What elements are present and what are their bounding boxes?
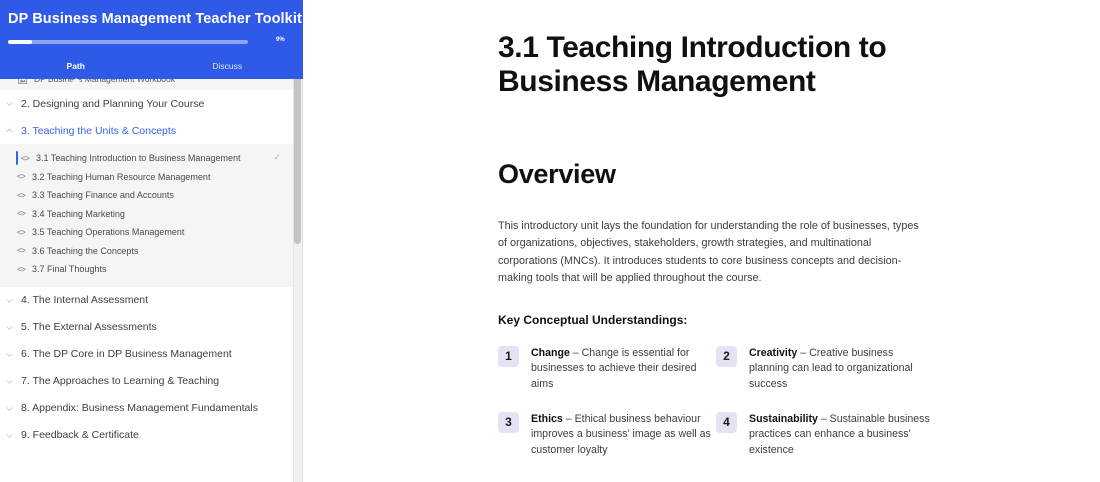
overview-heading: Overview [498,159,928,190]
sidebar-lesson-item[interactable]: <>3.7 Final Thoughts [0,260,293,279]
key-concept-dash: – [563,413,575,425]
sidebar-lesson-item[interactable]: <>3.2 Teaching Human Resource Management [0,168,293,187]
sidebar-lesson-item[interactable]: <>3.6 Teaching the Concepts [0,242,293,261]
sidebar-section-2[interactable]: 2. Designing and Planning Your Course [0,90,303,117]
key-concept-term: Sustainability [749,413,818,425]
chevron-up-icon [5,126,14,135]
sidebar-lesson-item[interactable]: <>3.1 Teaching Introduction to Business … [0,149,293,168]
sidebar-section-8[interactable]: 8. Appendix: Business Management Fundame… [0,395,303,422]
sidebar-lesson-item[interactable]: <>3.4 Teaching Marketing [0,205,293,224]
lesson-list: <>3.1 Teaching Introduction to Business … [0,144,293,287]
key-concept-item: 2Creativity – Creative business planning… [716,346,934,393]
lesson-label: 3.4 Teaching Marketing [32,209,125,219]
sidebar-section-label: 3. Teaching the Units & Concepts [21,125,176,137]
code-brackets-icon: <> [21,154,32,163]
lesson-content: 3.1 Teaching Introduction to Business Ma… [303,0,1100,482]
sidebar-scrollbar-thumb[interactable] [294,74,301,244]
key-concepts-heading: Key Conceptual Understandings: [498,313,928,327]
key-concept-number: 1 [498,346,519,367]
key-concept-number: 3 [498,412,519,433]
key-concept-term: Change [531,347,570,359]
sidebar-lesson-item[interactable]: <>3.5 Teaching Operations Management [0,223,293,242]
chevron-down-icon [5,431,14,440]
page-title: 3.1 Teaching Introduction to Business Ma… [498,31,928,99]
check-icon: ✓ [273,152,281,163]
sidebar-section-7[interactable]: 7. The Approaches to Learning & Teaching [0,368,303,395]
course-progress-bar [8,40,248,44]
sidebar-section-label: 5. The External Assessments [21,321,157,333]
sidebar-lesson-item[interactable]: <>3.3 Teaching Finance and Accounts [0,186,293,205]
sidebar-section-3[interactable]: 3. Teaching the Units & Concepts [0,117,303,144]
overview-paragraph: This introductory unit lays the foundati… [498,218,928,288]
course-progress-percent: 9% [276,37,285,43]
code-brackets-icon: <> [17,265,28,274]
key-concept-number: 2 [716,346,737,367]
chevron-down-icon [5,296,14,305]
key-concept-number: 4 [716,412,737,433]
lesson-label: 3.3 Teaching Finance and Accounts [32,190,174,200]
key-concept-item: 3Ethics – Ethical business behaviour imp… [498,412,716,459]
code-brackets-icon: <> [17,228,28,237]
key-concept-item: 1Change – Change is essential for busine… [498,346,716,393]
key-concept-item: 4Sustainability – Sustainable business p… [716,412,934,459]
sidebar-section-label: 6. The DP Core in DP Business Management [21,348,232,360]
sidebar-section-label: 7. The Approaches to Learning & Teaching [21,375,219,387]
key-concept-dash: – [797,347,809,359]
key-concept-text: Change – Change is essential for busines… [531,346,716,393]
key-concept-text: Ethics – Ethical business behaviour impr… [531,412,716,459]
lesson-label: 3.7 Final Thoughts [32,264,106,274]
sidebar-section-list: 2. Designing and Planning Your Course3. … [0,90,303,449]
header-title: DP Business Management Teacher Toolkit 2… [8,11,326,27]
sidebar-section-9[interactable]: 9. Feedback & Certificate [0,422,303,449]
app-root: DP Business Management Workbook 2. Desig… [0,0,1100,482]
header-tabs: Path Discuss [0,58,303,79]
tab-discuss[interactable]: Discuss [152,58,304,79]
chevron-down-icon [5,377,14,386]
sidebar-section-5[interactable]: 5. The External Assessments [0,314,303,341]
chevron-down-icon [5,99,14,108]
lesson-label: 3.2 Teaching Human Resource Management [32,172,210,182]
code-brackets-icon: <> [17,246,28,255]
code-brackets-icon: <> [17,191,28,200]
sidebar-section-label: 4. The Internal Assessment [21,294,148,306]
sidebar-section-label: 8. Appendix: Business Management Fundame… [21,402,258,414]
lesson-label: 3.5 Teaching Operations Management [32,227,184,237]
sidebar-section-label: 9. Feedback & Certificate [21,429,139,441]
chevron-down-icon [5,404,14,413]
tab-path[interactable]: Path [0,58,152,79]
key-concept-dash: – [570,347,582,359]
key-concept-text: Sustainability – Sustainable business pr… [749,412,934,459]
sidebar-section-6[interactable]: 6. The DP Core in DP Business Management [0,341,303,368]
key-concepts-grid: 1Change – Change is essential for busine… [498,346,928,459]
key-concept-term: Ethics [531,413,563,425]
lesson-label: 3.1 Teaching Introduction to Business Ma… [36,153,240,163]
sidebar-section-4[interactable]: 4. The Internal Assessment [0,287,303,314]
code-brackets-icon: <> [17,209,28,218]
key-concept-text: Creativity – Creative business planning … [749,346,934,393]
toolkit-header: DP Business Management Teacher Toolkit 2… [0,0,303,79]
chevron-down-icon [5,350,14,359]
course-progress-fill [8,40,32,44]
code-brackets-icon: <> [17,172,28,181]
lesson-label: 3.6 Teaching the Concepts [32,246,138,256]
chevron-down-icon [5,323,14,332]
key-concept-term: Creativity [749,347,797,359]
sidebar-section-label: 2. Designing and Planning Your Course [21,98,204,110]
key-concept-dash: – [818,413,830,425]
